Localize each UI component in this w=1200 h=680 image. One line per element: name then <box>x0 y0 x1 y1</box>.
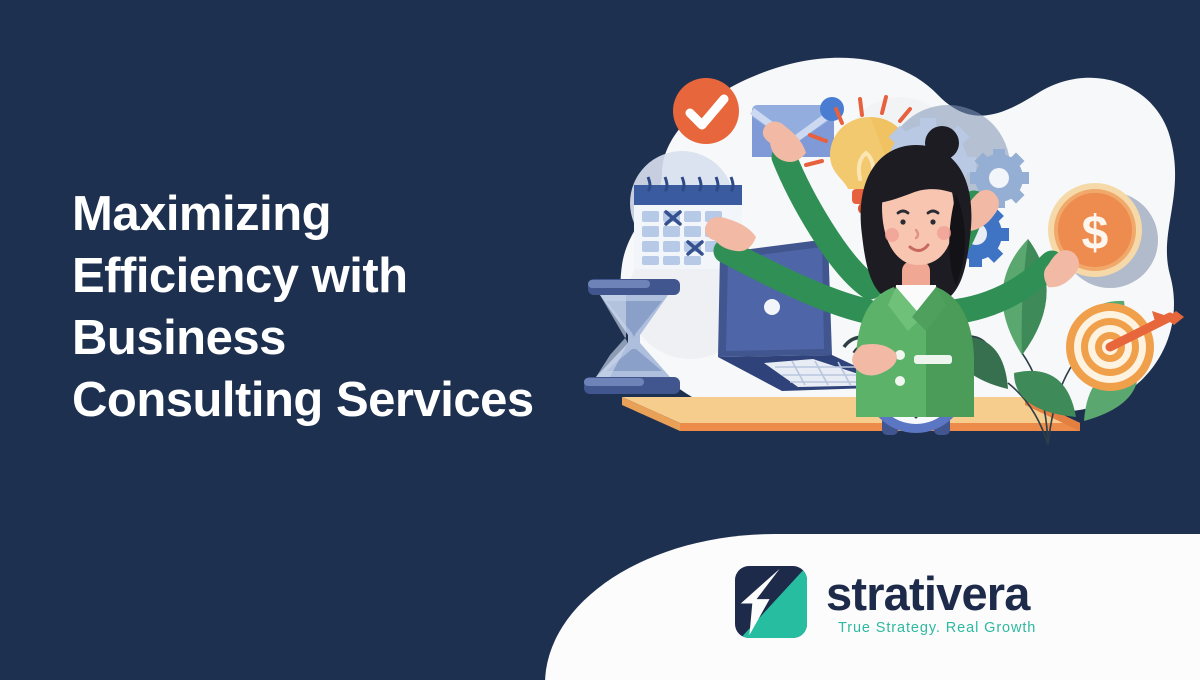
headline-line-2: Efficiency with <box>72 245 612 307</box>
headline-line-1: Maximizing <box>72 183 612 245</box>
brand-tagline: True Strategy. Real Growth <box>838 620 1036 636</box>
svg-text:$: $ <box>1082 207 1109 260</box>
headline-line-4: Consulting Services <box>72 369 612 431</box>
brand-plate: strativera True Strategy. Real Growth <box>545 534 1200 680</box>
check-circle-icon <box>673 78 739 144</box>
hero-illustration: $ <box>570 25 1190 465</box>
logo-lockup[interactable]: strativera True Strategy. Real Growth <box>735 566 1036 638</box>
desk-icon <box>622 397 1080 431</box>
target-arrow-icon <box>1066 303 1184 391</box>
logo-text-block: strativera True Strategy. Real Growth <box>826 569 1036 636</box>
blog-banner: Maximizing Efficiency with Business Cons… <box>0 0 1200 680</box>
page-title: Maximizing Efficiency with Business Cons… <box>72 183 612 431</box>
strativera-logo-icon[interactable] <box>735 566 807 638</box>
brand-wordmark: strativera <box>826 569 1036 618</box>
headline-line-3: Business <box>72 307 612 369</box>
